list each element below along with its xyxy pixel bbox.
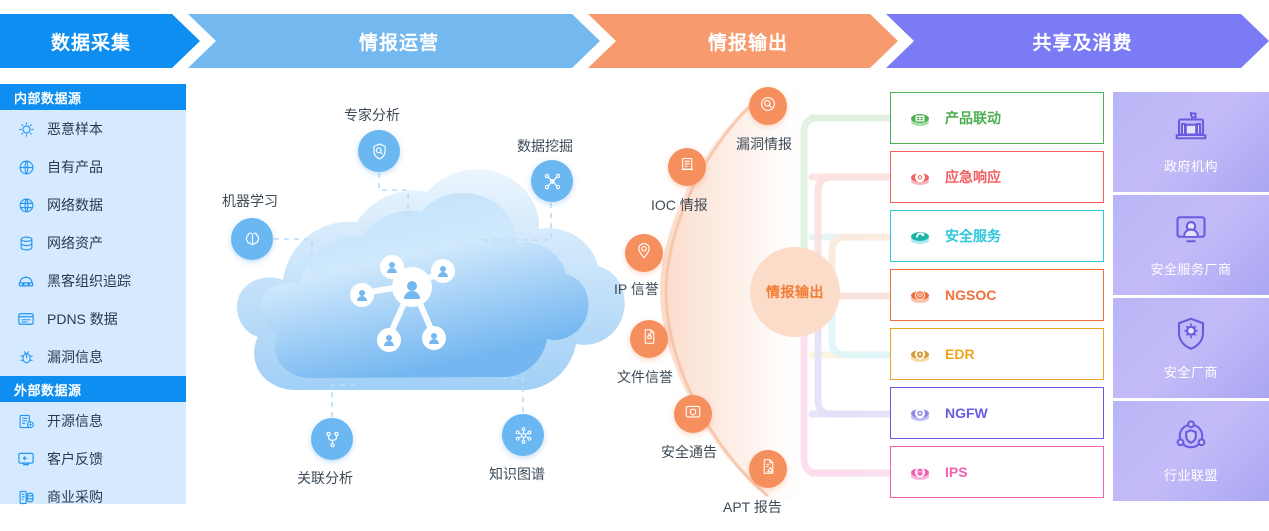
sidebar-item-malware-sample[interactable]: 恶意样本 — [0, 110, 186, 148]
consumer-label: 安全服务厂商 — [1150, 259, 1231, 278]
security-vendor-icon — [1173, 315, 1209, 356]
virus-icon — [14, 119, 38, 139]
intel-output-hub[interactable]: 情报输出 — [750, 247, 840, 337]
ips-icon — [907, 459, 933, 485]
cloud-label-knowledge-graph: 知识图谱 — [489, 464, 545, 484]
intel-node-ip-reputation[interactable] — [625, 234, 663, 272]
sidebar-item-label: 漏洞信息 — [47, 347, 103, 367]
edr-icon — [907, 341, 933, 367]
product-label: NGSOC — [945, 287, 996, 303]
service-vendor-icon — [1173, 212, 1209, 253]
product-box-ngfw[interactable]: NGFW — [890, 387, 1104, 439]
product-label: NGFW — [945, 405, 988, 421]
intel-label-ip-reputation: IP 信誉 — [614, 279, 659, 299]
product-box-ips[interactable]: IPS — [890, 446, 1104, 498]
open-source-icon — [14, 411, 38, 431]
cloud-label-machine-learning: 机器学习 — [222, 191, 278, 211]
data-mining-icon — [543, 172, 562, 191]
cloud-node-data-mining[interactable] — [531, 160, 573, 202]
ngfw-icon — [907, 400, 933, 426]
intel-node-apt-report[interactable] — [749, 450, 787, 488]
intel-label-ioc-intel: IOC 情报 — [651, 195, 708, 215]
intel-node-vuln-intel[interactable] — [749, 87, 787, 125]
stage-arrow-operation[interactable]: 情报运营 — [188, 14, 600, 68]
product-label: 应急响应 — [945, 167, 1001, 187]
shield-screen-icon — [684, 403, 702, 426]
intel-node-security-bulletin[interactable] — [674, 395, 712, 433]
service-icon — [907, 223, 933, 249]
sidebar-item-network-data[interactable]: 网络数据 — [0, 186, 186, 224]
database-icon — [14, 233, 38, 253]
intel-label-apt-report: APT 报告 — [723, 497, 782, 517]
consumer-panel-industry-alliance[interactable]: 行业联盟 — [1113, 401, 1269, 501]
consumer-panel-service-vendor[interactable]: 安全服务厂商 — [1113, 195, 1269, 295]
sidebar-item-own-product[interactable]: 自有产品 — [0, 148, 186, 186]
sidebar-item-hacker-tracking[interactable]: 黑客组织追踪 — [0, 262, 186, 300]
consumer-label: 安全厂商 — [1164, 362, 1218, 381]
stage-arrow-sharing[interactable]: 共享及消费 — [886, 14, 1269, 68]
purchase-icon — [14, 487, 38, 507]
cloud-node-machine-learning[interactable] — [231, 218, 273, 260]
sidebar-group-title-internal: 内部数据源 — [0, 84, 186, 110]
cloud-node-correlation-analysis[interactable] — [311, 418, 353, 460]
consumer-panel-list: 政府机构 安全服务厂商 安全厂商 行业联盟 — [1113, 92, 1269, 504]
product-label: 产品联动 — [945, 108, 1001, 128]
product-box-emergency-response[interactable]: 应急响应 — [890, 151, 1104, 203]
cloud-label-data-mining: 数据挖掘 — [517, 136, 573, 156]
sidebar-item-commercial-purchase[interactable]: 商业采购 — [0, 478, 186, 516]
sidebar-item-label: 开源信息 — [47, 411, 103, 431]
product-globe-icon — [14, 157, 38, 177]
sidebar-item-label: 网络资产 — [47, 233, 103, 253]
sidebar-item-network-asset[interactable]: 网络资产 — [0, 224, 186, 262]
vuln-scan-icon — [759, 95, 777, 118]
consumer-panel-security-vendor[interactable]: 安全厂商 — [1113, 298, 1269, 398]
dns-card-icon — [14, 309, 38, 329]
apt-report-icon — [760, 458, 777, 480]
sidebar-item-label: 商业采购 — [47, 487, 103, 507]
link-analysis-icon — [323, 430, 342, 449]
consumer-panel-government[interactable]: 政府机构 — [1113, 92, 1269, 192]
hacker-icon — [14, 271, 38, 291]
consumer-label: 政府机构 — [1164, 156, 1218, 175]
stage-ribbon: 数据采集 情报运营 情报输出 共享及消费 — [0, 14, 1269, 68]
sidebar-item-vulnerability-info[interactable]: 漏洞信息 — [0, 338, 186, 376]
intel-label-security-bulletin: 安全通告 — [661, 442, 717, 462]
knowledge-graph-icon — [514, 426, 533, 445]
product-box-list: 产品联动 应急响应 安全服务 NGSOC EDR NGFW IPS — [890, 92, 1104, 505]
sidebar-item-label: 网络数据 — [47, 195, 103, 215]
globe-icon — [14, 195, 38, 215]
consumer-label: 行业联盟 — [1164, 465, 1218, 484]
diagram-root: 数据采集 情报运营 情报输出 共享及消费 内部数据源 恶意样本 自有产品 网络数… — [0, 0, 1269, 531]
stage-arrow-collection[interactable]: 数据采集 — [0, 14, 200, 68]
intel-label-file-reputation: 文件信誉 — [617, 367, 673, 387]
stage-label-operation: 情报运营 — [359, 28, 439, 55]
data-source-sidebar: 内部数据源 恶意样本 自有产品 网络数据 网络资产 黑客组织追踪 PDNS 数据… — [0, 84, 186, 504]
product-box-edr[interactable]: EDR — [890, 328, 1104, 380]
product-label: 安全服务 — [945, 226, 1001, 246]
feedback-icon — [14, 449, 38, 469]
sidebar-item-open-source-info[interactable]: 开源信息 — [0, 402, 186, 440]
cloud-graphic — [237, 169, 625, 417]
emergency-icon — [907, 164, 933, 190]
cloud-label-correlation-analysis: 关联分析 — [297, 468, 353, 488]
intel-node-file-reputation[interactable] — [630, 320, 668, 358]
brain-icon — [243, 230, 262, 249]
alliance-icon — [1173, 418, 1209, 459]
cloud-label-expert-analysis: 专家分析 — [344, 105, 400, 125]
file-lock-icon — [641, 328, 658, 350]
sidebar-item-customer-feedback[interactable]: 客户反馈 — [0, 440, 186, 478]
ioc-doc-icon — [679, 156, 696, 178]
cloud-node-expert-analysis[interactable] — [358, 130, 400, 172]
product-label: EDR — [945, 346, 975, 362]
sidebar-item-label: 恶意样本 — [47, 119, 103, 139]
shield-search-icon — [370, 142, 389, 161]
sidebar-item-pdns-data[interactable]: PDNS 数据 — [0, 300, 186, 338]
product-box-ngsoc[interactable]: NGSOC — [890, 269, 1104, 321]
sidebar-item-label: PDNS 数据 — [47, 309, 118, 329]
stage-label-output: 情报输出 — [708, 28, 788, 55]
sidebar-group-title-external: 外部数据源 — [0, 376, 186, 402]
sidebar-item-label: 黑客组织追踪 — [47, 271, 131, 291]
stage-label-collection: 数据采集 — [51, 28, 131, 55]
intel-label-vuln-intel: 漏洞情报 — [736, 134, 792, 154]
product-box-product-linkage[interactable]: 产品联动 — [890, 92, 1104, 144]
cloud-node-knowledge-graph[interactable] — [502, 414, 544, 456]
product-label: IPS — [945, 464, 968, 480]
hub-label: 情报输出 — [766, 282, 824, 302]
ip-pin-icon — [635, 242, 653, 265]
ngsoc-icon — [907, 282, 933, 308]
stage-label-sharing: 共享及消费 — [1032, 28, 1132, 55]
intel-node-ioc-intel[interactable] — [668, 148, 706, 186]
bug-icon — [14, 347, 38, 367]
product-box-security-service[interactable]: 安全服务 — [890, 210, 1104, 262]
sidebar-item-label: 客户反馈 — [47, 449, 103, 469]
sidebar-item-label: 自有产品 — [47, 157, 103, 177]
government-icon — [1173, 109, 1209, 150]
stage-arrow-output[interactable]: 情报输出 — [588, 14, 898, 68]
product-link-icon — [907, 105, 933, 131]
